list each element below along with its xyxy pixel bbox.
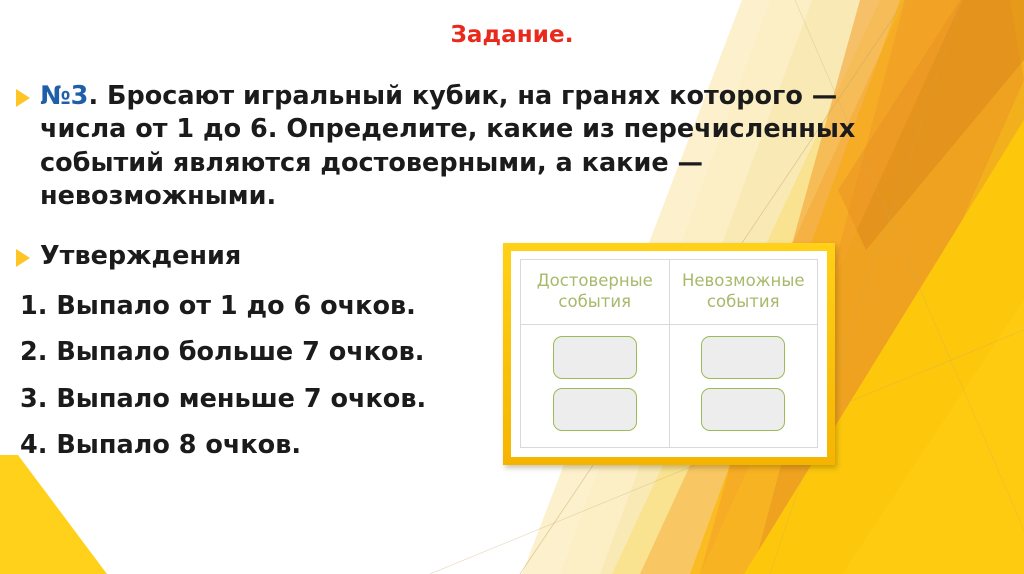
table-row: [521, 325, 818, 448]
events-table-inner: Достоверные события Невозможные события: [511, 251, 827, 457]
slide-canvas: Задание. №3. Бросают игральный кубик, на…: [0, 0, 1024, 574]
list-item-text: Выпало меньше 7 очков.: [56, 384, 426, 414]
column-header-impossible-line2: события: [707, 292, 780, 311]
table-header-row: Достоверные события Невозможные события: [521, 260, 818, 325]
column-header-certain-line1: Достоверные: [537, 271, 653, 290]
answer-slot[interactable]: [701, 336, 785, 379]
events-table: Достоверные события Невозможные события: [520, 259, 818, 448]
list-item-text: Выпало 8 очков.: [56, 430, 301, 460]
problem-text-wrapper: №3. Бросают игральный кубик, на гранях к…: [40, 80, 932, 214]
list-item-number: 3.: [20, 384, 47, 414]
list-item-number: 4.: [20, 430, 47, 460]
answer-slot[interactable]: [553, 336, 637, 379]
events-table-card: Достоверные события Невозможные события: [503, 243, 835, 465]
cell-impossible-answers: [669, 325, 818, 448]
list-item-text: Выпало от 1 до 6 очков.: [56, 291, 415, 321]
list-item-text: Выпало больше 7 очков.: [56, 337, 424, 367]
column-header-impossible-line1: Невозможные: [682, 271, 805, 290]
cell-certain-answers: [521, 325, 670, 448]
statements-header-label: Утверждения: [40, 240, 241, 273]
problem-paragraph: №3. Бросают игральный кубик, на гранях к…: [16, 80, 932, 214]
triangle-bullet-icon: [16, 89, 30, 107]
column-header-certain: Достоверные события: [521, 260, 670, 325]
problem-number: №3: [40, 81, 88, 111]
triangle-bullet-icon: [16, 249, 30, 267]
problem-body: . Бросают игральный кубик, на гранях кот…: [40, 81, 855, 211]
list-item-number: 1.: [20, 291, 47, 321]
page-title: Задание.: [0, 22, 1024, 48]
answer-slot[interactable]: [701, 388, 785, 431]
list-item-number: 2.: [20, 337, 47, 367]
column-header-certain-line2: события: [558, 292, 631, 311]
answer-slot[interactable]: [553, 388, 637, 431]
column-header-impossible: Невозможные события: [669, 260, 818, 325]
